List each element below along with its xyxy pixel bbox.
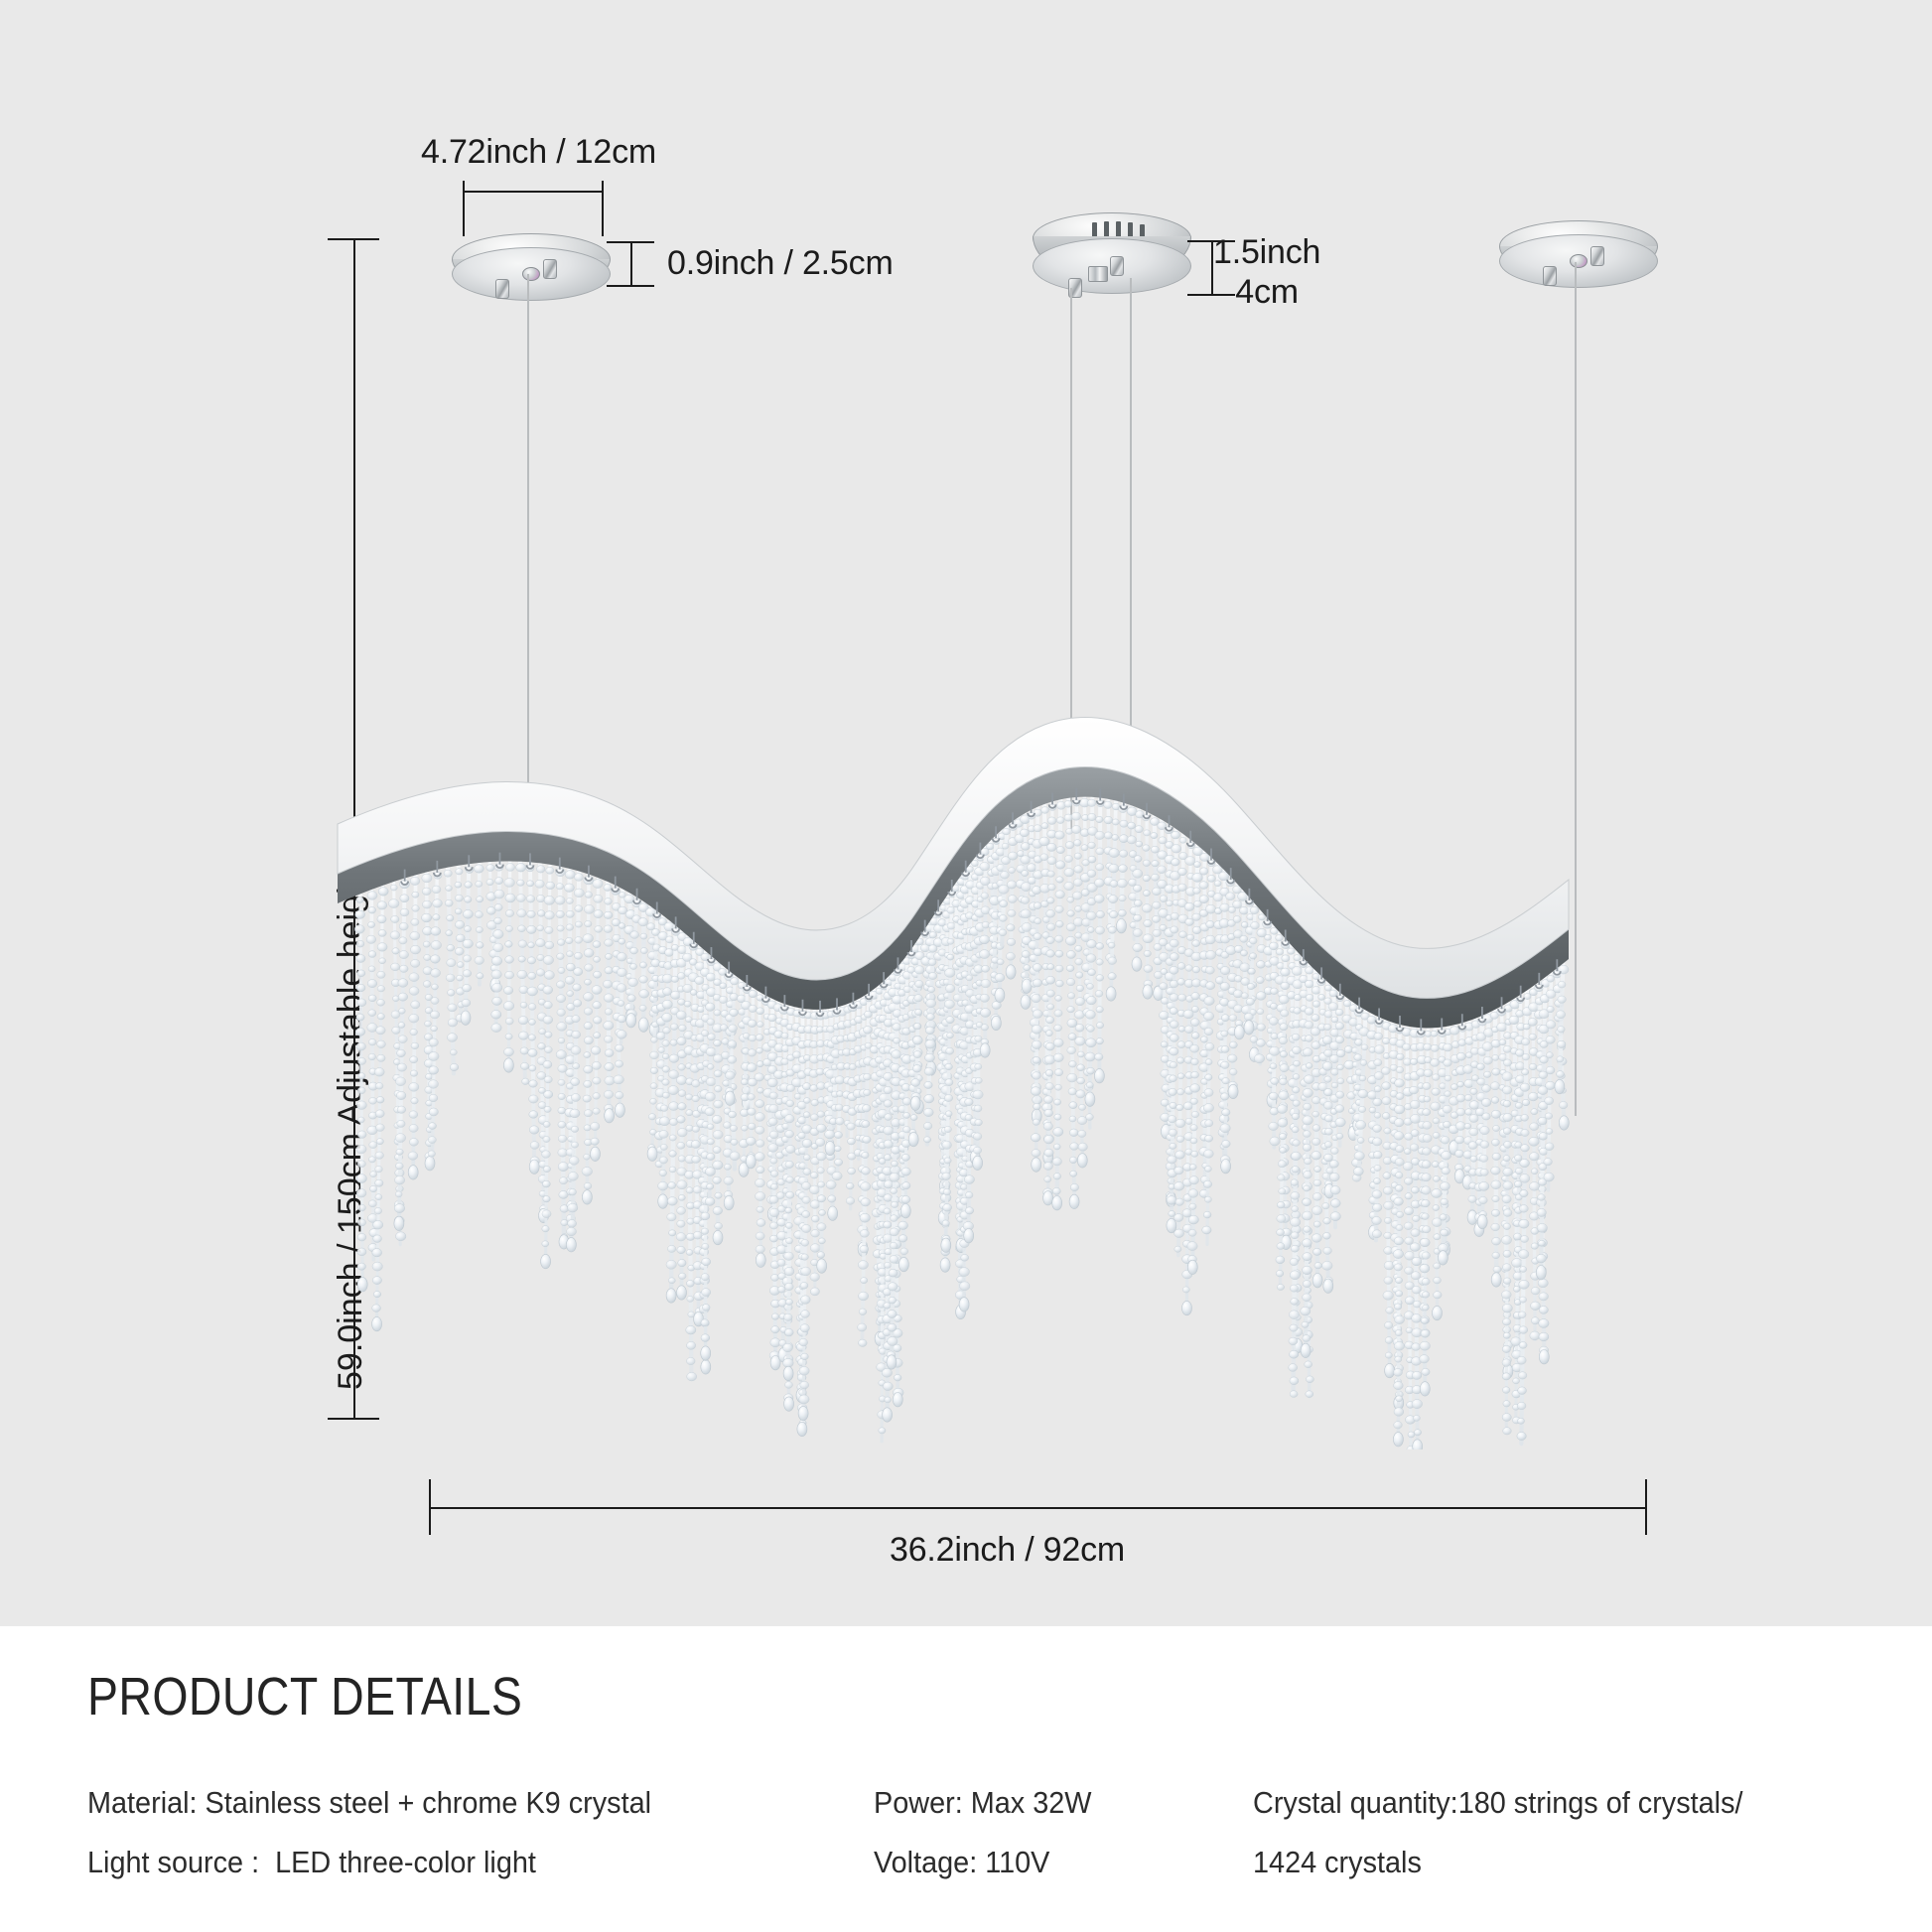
crystal-bead <box>1086 1114 1094 1121</box>
detail-material: Material: Stainless steel + chrome K9 cr… <box>87 1773 826 1833</box>
crystal-bead <box>1395 1185 1403 1192</box>
crystal-finial <box>797 1422 807 1436</box>
crystal-bead <box>1175 1151 1185 1159</box>
crystal-bead <box>1186 934 1194 940</box>
crystal-bead <box>741 1079 748 1085</box>
crystal-finial <box>756 1253 765 1267</box>
crystal-bead <box>1170 1061 1177 1068</box>
crystal-bead <box>748 1020 757 1028</box>
crystal-bead <box>1403 1043 1411 1050</box>
crystal-bead <box>505 864 514 872</box>
crystal-bead <box>1118 909 1126 916</box>
crystal-bead <box>768 1014 777 1022</box>
crystal-bead <box>1108 926 1116 933</box>
crystal-bead <box>1330 1199 1340 1208</box>
crystal-bead <box>1329 1173 1339 1181</box>
crystal-bead <box>606 954 613 960</box>
crystal-bead <box>1537 1223 1547 1232</box>
crystal-bead <box>1170 1047 1178 1055</box>
crystal-bead <box>1221 1031 1228 1036</box>
crystal-bead <box>356 1101 366 1110</box>
crystal-finial <box>1006 965 1016 979</box>
crystal-bead <box>1170 1075 1177 1082</box>
crystal-bead <box>628 978 638 987</box>
crystal-bead <box>1441 1137 1449 1145</box>
crystal-finial <box>893 1393 902 1407</box>
crystal-bead <box>1086 1082 1093 1088</box>
crystal-bead <box>1190 1044 1199 1052</box>
crystal-bead <box>1394 1408 1404 1417</box>
crystal-bead <box>902 1182 910 1189</box>
crystal-bead <box>566 897 573 903</box>
crystal-bead <box>542 1241 549 1247</box>
crystal-bead <box>564 884 574 893</box>
crystal-bead <box>1291 1232 1299 1239</box>
canopy-right-hub <box>1570 254 1587 268</box>
crystal-bead <box>397 1106 406 1113</box>
crystal-bead <box>1033 964 1041 972</box>
crystal-bead <box>1233 916 1241 923</box>
crystal-bead <box>1221 1015 1229 1022</box>
crystal-bead <box>1034 902 1041 909</box>
crystal-bead <box>1311 1097 1320 1104</box>
crystal-bead <box>1085 1052 1096 1061</box>
crystal-bead <box>798 1117 807 1124</box>
crystal-bead <box>929 932 937 938</box>
crystal-bead <box>558 1135 567 1142</box>
crystal-bead <box>995 974 1005 982</box>
crystal-bead <box>455 920 464 928</box>
crystal-bead <box>409 1138 418 1146</box>
crystal-bead <box>738 1009 746 1016</box>
crystal-bead <box>755 1073 764 1081</box>
crystal-bead <box>520 1047 528 1054</box>
crystal-bead <box>400 895 409 902</box>
crystal-bead <box>1314 1263 1322 1269</box>
crystal-bead <box>731 978 740 985</box>
crystal-bead <box>1046 937 1054 944</box>
crystal-bead <box>1395 1079 1405 1087</box>
crystal-bead <box>945 985 954 993</box>
canopy-right <box>1499 220 1658 306</box>
crystal-bead <box>1009 868 1016 874</box>
crystal-bead <box>1336 1133 1343 1139</box>
crystal-bead <box>747 1063 757 1072</box>
crystal-bead <box>1521 1114 1529 1121</box>
crystal-finial <box>677 1286 687 1300</box>
crystal-bead <box>1292 1113 1300 1120</box>
crystal-bead <box>1020 829 1029 837</box>
crystal-bead <box>677 1180 687 1189</box>
crystal-finial <box>713 1230 723 1244</box>
crystal-bead <box>1546 1066 1555 1074</box>
crystal-bead <box>545 1046 553 1053</box>
crystal-bead <box>662 1092 669 1098</box>
crystal-bead <box>544 1002 553 1009</box>
crystal-bead <box>1367 1091 1377 1099</box>
crystal-finial <box>964 1229 974 1243</box>
crystal-bead <box>660 1105 668 1112</box>
crystal-bead <box>1372 1230 1381 1238</box>
crystal-bead <box>1191 1111 1199 1117</box>
crystal-bead <box>947 954 954 960</box>
crystal-bead <box>1480 1126 1490 1134</box>
crystal-bead <box>756 1192 765 1201</box>
crystal-bead <box>723 1080 730 1086</box>
crystal-bead <box>1119 865 1128 873</box>
crystal-bead <box>1191 1006 1198 1012</box>
crystal-bead <box>409 1083 419 1092</box>
crystal-bead <box>1178 884 1187 892</box>
crystal-bead <box>1192 913 1201 920</box>
crystal-bead <box>1306 994 1313 1001</box>
crystal-bead <box>862 1168 871 1175</box>
crystal-bead <box>848 1168 856 1174</box>
crystal-bead <box>677 1037 686 1045</box>
crystal-bead <box>801 1267 811 1276</box>
crystal-bead <box>835 1118 844 1126</box>
crystal-finial <box>701 1346 711 1360</box>
crystal-bead <box>799 1338 808 1346</box>
crystal-bead <box>583 1095 591 1102</box>
crystal-bead <box>566 924 574 931</box>
crystal-bead <box>1265 934 1272 940</box>
crystal-bead <box>570 1109 580 1118</box>
crystal-bead <box>658 1047 665 1053</box>
crystal-bead <box>1032 1072 1040 1080</box>
crystal-bead <box>1502 1414 1511 1422</box>
crystal-bead <box>1303 1266 1312 1275</box>
crystal-bead <box>1383 1186 1392 1194</box>
crystal-bead <box>518 940 527 948</box>
crystal-bead <box>1303 1294 1311 1302</box>
crystal-bead <box>1330 1212 1340 1221</box>
crystal-bead <box>1373 1203 1382 1211</box>
crystal-finial <box>1420 1382 1430 1396</box>
crystal-bead <box>522 1078 529 1084</box>
crystal-bead <box>667 1245 675 1252</box>
crystal-bead <box>463 984 472 992</box>
crystal-bead <box>1190 1125 1197 1131</box>
crystal-bead <box>1204 1012 1214 1021</box>
crystal-bead <box>1374 1059 1382 1066</box>
crystal-bead <box>542 1180 550 1187</box>
crystal-bead <box>1337 1064 1344 1070</box>
crystal-bead <box>455 895 463 901</box>
crystal-bead <box>527 925 537 933</box>
crystal-bead <box>1277 1229 1285 1236</box>
crystal-bead <box>1047 857 1056 865</box>
crystal-bead <box>1096 1023 1103 1029</box>
crystal-bead <box>1108 957 1117 965</box>
crystal-bead <box>463 955 471 962</box>
crystal-bead <box>593 1017 602 1024</box>
crystal-bead <box>493 930 503 939</box>
crystal-bead <box>1558 996 1567 1003</box>
crystal-finial <box>746 1155 756 1169</box>
crystal-bead <box>686 1250 693 1256</box>
crystal-bead <box>1087 940 1097 948</box>
crystal-bead <box>1423 1082 1431 1089</box>
crystal-bead <box>574 889 584 897</box>
crystal-bead <box>1464 1094 1472 1101</box>
crystal-bead <box>892 1161 898 1167</box>
crystal-bead <box>1189 1165 1196 1171</box>
crystal-bead <box>1200 1049 1209 1057</box>
crystal-bead <box>1538 1240 1545 1246</box>
crystal-bead <box>555 897 565 905</box>
crystal-bead <box>1519 1205 1528 1213</box>
crystal-bead <box>669 1119 677 1126</box>
crystal-bead <box>356 1145 366 1154</box>
crystal-bead <box>1412 1314 1422 1323</box>
crystal-bead <box>786 1100 794 1107</box>
crystal-bead <box>669 1167 676 1173</box>
crystal-bead <box>746 1137 756 1145</box>
crystal-bead <box>505 941 513 948</box>
crystal-bead <box>1066 978 1075 985</box>
crystal-bead <box>1070 1143 1079 1151</box>
crystal-bead <box>1292 1046 1301 1054</box>
crystal-finial <box>1022 979 1032 993</box>
crystal-bead <box>1422 1148 1431 1156</box>
crystal-bead <box>1174 1167 1183 1174</box>
crystal-bead <box>1291 1299 1299 1306</box>
crystal-bead <box>973 1133 982 1140</box>
crystal-bead <box>1516 1075 1525 1083</box>
canopy-left-height-dimension-line <box>630 241 632 287</box>
crystal-bead <box>545 941 554 949</box>
crystal-bead <box>1491 1097 1499 1104</box>
crystal-bead <box>1034 1103 1041 1110</box>
crystal-bead <box>493 943 503 952</box>
crystal-bead <box>1519 1280 1530 1289</box>
crystal-bead <box>1503 1168 1513 1175</box>
crystal-bead <box>1441 1229 1449 1236</box>
crystal-bead <box>1053 1038 1063 1047</box>
crystal-finial <box>1406 1489 1416 1503</box>
crystal-bead <box>1276 934 1284 941</box>
crystal-bead <box>377 915 386 923</box>
crystal-bead <box>1492 1237 1501 1245</box>
product-details-panel: PRODUCT DETAILS Material: Stainless stee… <box>0 1626 1932 1932</box>
crystal-bead <box>1070 1171 1077 1176</box>
crystal-bead <box>1191 1033 1199 1039</box>
crystal-bead <box>677 1207 686 1215</box>
crystal-bead <box>1033 979 1041 987</box>
crystal-bead <box>1372 1190 1382 1198</box>
crystal-bead <box>566 937 574 943</box>
crystal-bead <box>396 1232 406 1241</box>
crystal-bead <box>476 927 483 933</box>
crystal-bead <box>961 1184 968 1190</box>
crystal-bead <box>1046 990 1054 997</box>
crystal-bead <box>1503 1223 1511 1230</box>
crystal-finial <box>372 1316 382 1330</box>
crystal-bead <box>529 1065 536 1071</box>
crystal-bead <box>584 949 594 958</box>
crystal-bead <box>1043 1096 1052 1104</box>
crystal-bead <box>756 1100 764 1108</box>
crystal-bead <box>1465 1109 1473 1116</box>
crystal-bead <box>1503 1278 1511 1285</box>
crystal-bead <box>1289 1337 1298 1345</box>
crystal-bead <box>1048 884 1056 891</box>
crystal-bead <box>676 1233 686 1241</box>
crystal-bead <box>1069 1116 1076 1122</box>
crystal-bead <box>1330 1029 1339 1036</box>
crystal-bead <box>1271 1078 1279 1085</box>
crystal-bead <box>819 1210 826 1216</box>
crystal-bead <box>863 1027 872 1035</box>
crystal-bead <box>1420 1341 1431 1350</box>
crystal-bead <box>756 1140 764 1148</box>
crystal-bead <box>1279 1134 1286 1140</box>
crystal-bead <box>1383 1173 1391 1179</box>
crystal-bead <box>1076 1090 1085 1098</box>
crystal-bead <box>529 1020 536 1026</box>
crystal-bead <box>1353 1168 1363 1176</box>
crystal-bead <box>911 1079 920 1087</box>
crystal-finial <box>1032 1158 1041 1172</box>
crystal-bead <box>1423 1122 1432 1130</box>
crystal-finial <box>425 1157 435 1171</box>
crystal-bead <box>375 1194 382 1200</box>
crystal-bead <box>1086 1038 1097 1047</box>
crystal-bead <box>926 999 936 1008</box>
crystal-bead <box>1256 977 1264 984</box>
product-details-title: PRODUCT DETAILS <box>87 1666 522 1727</box>
crystal-bead <box>707 1124 714 1130</box>
crystal-bead <box>785 1161 794 1168</box>
crystal-bead <box>942 1173 951 1180</box>
crystal-bead <box>557 1023 567 1032</box>
crystal-bead <box>618 1001 624 1007</box>
crystal-finial <box>1438 1251 1448 1265</box>
crystal-bead <box>1041 807 1049 814</box>
crystal-finial <box>898 1257 908 1271</box>
crystal-bead <box>594 956 601 962</box>
crystal-finial <box>1413 1440 1423 1453</box>
crystal-bead <box>615 1092 623 1099</box>
crystal-finial <box>1221 1160 1231 1173</box>
crystal-bead <box>593 1108 600 1114</box>
crystal-bead <box>544 1091 553 1099</box>
chandelier-fixture <box>377 755 1688 1410</box>
crystal-finial <box>615 1103 624 1117</box>
crystal-bead <box>1405 1207 1414 1215</box>
crystal-bead <box>818 1238 825 1244</box>
crystal-bead <box>505 956 514 964</box>
crystal-bead <box>651 959 660 967</box>
crystal-bead <box>1546 1052 1553 1058</box>
crystal-bead <box>528 1004 536 1011</box>
crystal-bead <box>1306 1035 1313 1042</box>
crystal-bead <box>630 947 638 954</box>
crystal-bead <box>1053 1128 1063 1137</box>
crystal-bead <box>358 1073 365 1079</box>
crystal-bead <box>520 1002 527 1008</box>
crystal-finial <box>1069 1194 1079 1208</box>
crystal-bead <box>1396 1225 1403 1231</box>
crystal-bead <box>372 1305 381 1312</box>
crystal-bead <box>1515 1168 1523 1174</box>
crystal-bead <box>356 1042 365 1050</box>
crystal-bead <box>477 942 484 949</box>
crystal-bead <box>1323 1024 1331 1030</box>
crystal-bead <box>556 910 565 917</box>
crystal-bead <box>1434 1263 1441 1269</box>
crystal-bead <box>630 931 639 939</box>
crystal-bead <box>1056 877 1064 883</box>
crystal-bead <box>1205 904 1215 913</box>
crystal-bead <box>1055 920 1063 927</box>
crystal-bead <box>1557 1071 1565 1078</box>
crystal-finial <box>408 1166 418 1179</box>
crystal-bead <box>1412 1257 1422 1266</box>
crystal-bead <box>1411 1229 1420 1237</box>
crystal-bead <box>594 1033 601 1038</box>
crystal-bead <box>1470 1088 1477 1094</box>
crystal-bead <box>1518 1387 1527 1395</box>
crystal-bead <box>1035 918 1041 924</box>
crystal-bead <box>1557 1056 1564 1062</box>
crystal-bead <box>799 1366 809 1375</box>
crystal-bead <box>368 921 375 927</box>
crystal-bead <box>971 860 978 866</box>
crystal-bead <box>358 1057 366 1064</box>
crystal-bead <box>542 1210 551 1218</box>
crystal-bead <box>801 1239 809 1246</box>
crystal-bead <box>1503 1100 1511 1107</box>
crystal-bead <box>1503 1128 1511 1135</box>
crystal-bead <box>1170 953 1178 961</box>
crystal-bead <box>355 1028 364 1035</box>
crystal-bead <box>423 981 431 988</box>
crystal-bead <box>1189 1176 1199 1184</box>
crystal-bead <box>1109 849 1120 858</box>
crystal-bead <box>520 1062 528 1069</box>
crystal-bead <box>446 930 453 936</box>
crystal-bead <box>1444 1043 1452 1051</box>
crystal-bead <box>1420 1264 1430 1273</box>
crystal-bead <box>1539 1319 1549 1328</box>
crystal-bead <box>537 925 544 931</box>
crystal-bead <box>1422 1292 1430 1298</box>
crystal-bead <box>1456 1052 1465 1060</box>
crystal-finial <box>725 1091 735 1105</box>
crystal-bead <box>1294 955 1301 961</box>
crystal-bead <box>676 1011 686 1020</box>
crystal-finial <box>529 1160 539 1173</box>
crystal-bead <box>658 1181 668 1190</box>
canopy-width-tick-left <box>463 181 465 236</box>
crystal-strand <box>1506 1003 1508 1434</box>
crystal-bead <box>1178 1027 1185 1033</box>
crystal-bead <box>1422 1278 1430 1285</box>
crystal-bead <box>1433 1205 1440 1211</box>
crystal-bead <box>584 904 594 913</box>
crystal-bead <box>1279 1091 1289 1100</box>
crystal-bead <box>464 897 472 903</box>
crystal-bead <box>669 1102 679 1111</box>
crystal-bead <box>1169 1088 1176 1095</box>
crystal-bead <box>1053 1173 1061 1180</box>
crystal-bead <box>573 1063 580 1069</box>
crystal-bead <box>377 1054 385 1061</box>
crystal-bead <box>1503 1045 1511 1052</box>
crystal-bead <box>604 1021 614 1030</box>
